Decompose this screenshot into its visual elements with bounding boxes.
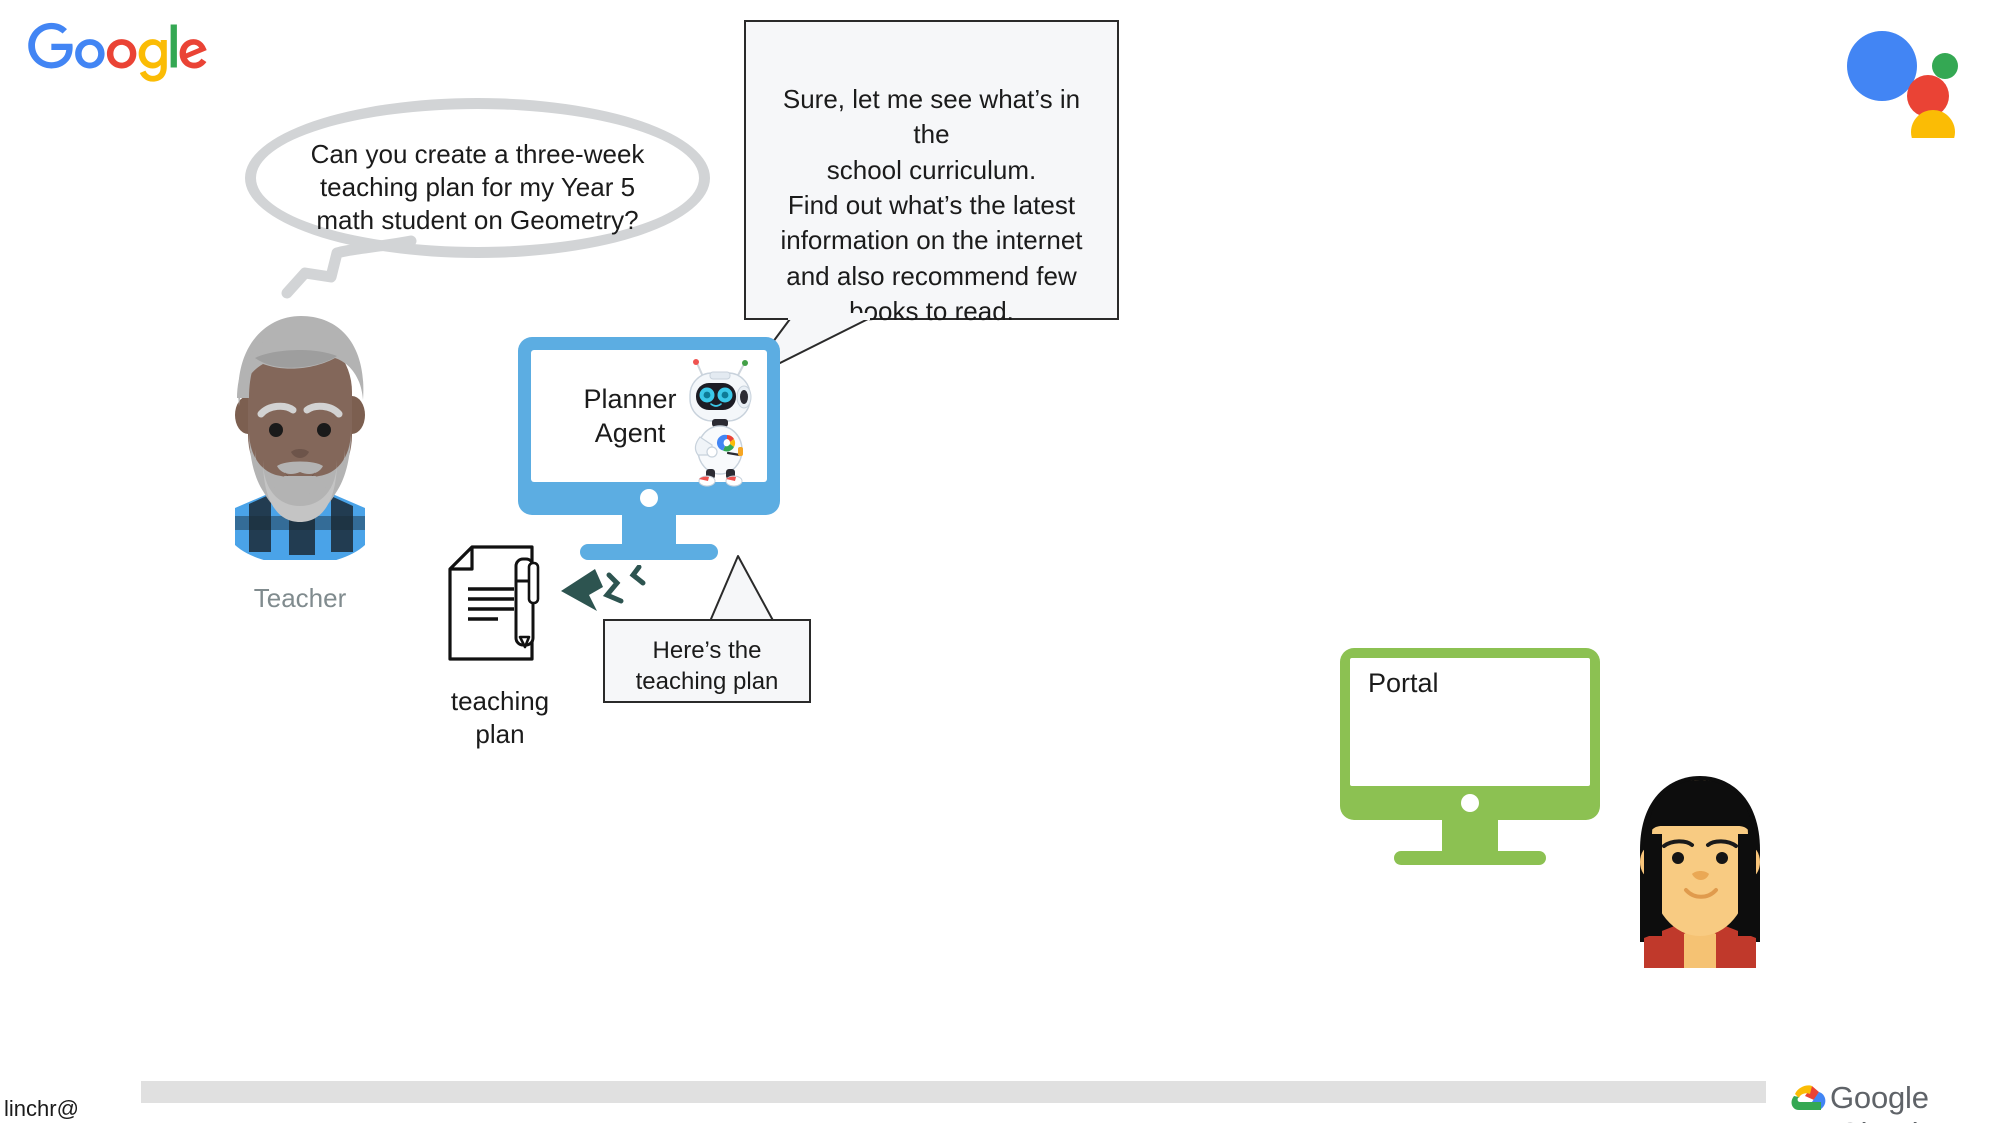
footer-progress-bar	[141, 1081, 1766, 1103]
teacher-speech-bubble: Can you create a three-week teaching pla…	[245, 98, 710, 258]
footer-username: linchr@	[4, 1096, 79, 1122]
google-logo	[28, 22, 208, 84]
teacher-label: Teacher	[190, 583, 410, 614]
planner-robot-mascot-icon	[682, 357, 758, 489]
flow-arrow-icon	[555, 565, 665, 625]
teacher-bubble-text: Can you create a three-week teaching pla…	[293, 138, 662, 236]
agent-speech-bubble: Sure, let me see what’s in the school cu…	[744, 20, 1119, 320]
google-cloud-wordmark: Google Cloud	[1830, 1080, 2000, 1123]
google-assistant-dots-icon	[1845, 28, 1975, 138]
google-cloud-mark	[1792, 1085, 1826, 1113]
agent-bubble-text: Sure, let me see what’s in the school cu…	[768, 82, 1095, 330]
planner-agent-label: Planner Agent	[560, 383, 700, 451]
plan-delivery-bubble-text: Here’s the teaching plan	[613, 635, 801, 697]
green-dot	[1932, 53, 1958, 79]
speech-bubble-tail	[279, 233, 429, 303]
google-cloud-word-cloud: Cloud	[1838, 1116, 1918, 1123]
teaching-plan-document-icon	[446, 545, 556, 663]
student-avatar	[1628, 772, 1773, 972]
blue-dot	[1847, 31, 1917, 101]
teaching-plan-label: teaching plan	[410, 685, 590, 750]
slide-canvas: Can you create a three-week teaching pla…	[0, 0, 2000, 1123]
teacher-avatar	[215, 300, 385, 560]
google-cloud-word-google: Google	[1830, 1080, 1929, 1115]
portal-label: Portal	[1368, 668, 1439, 699]
plan-delivery-bubble: Here’s the teaching plan	[603, 619, 811, 703]
